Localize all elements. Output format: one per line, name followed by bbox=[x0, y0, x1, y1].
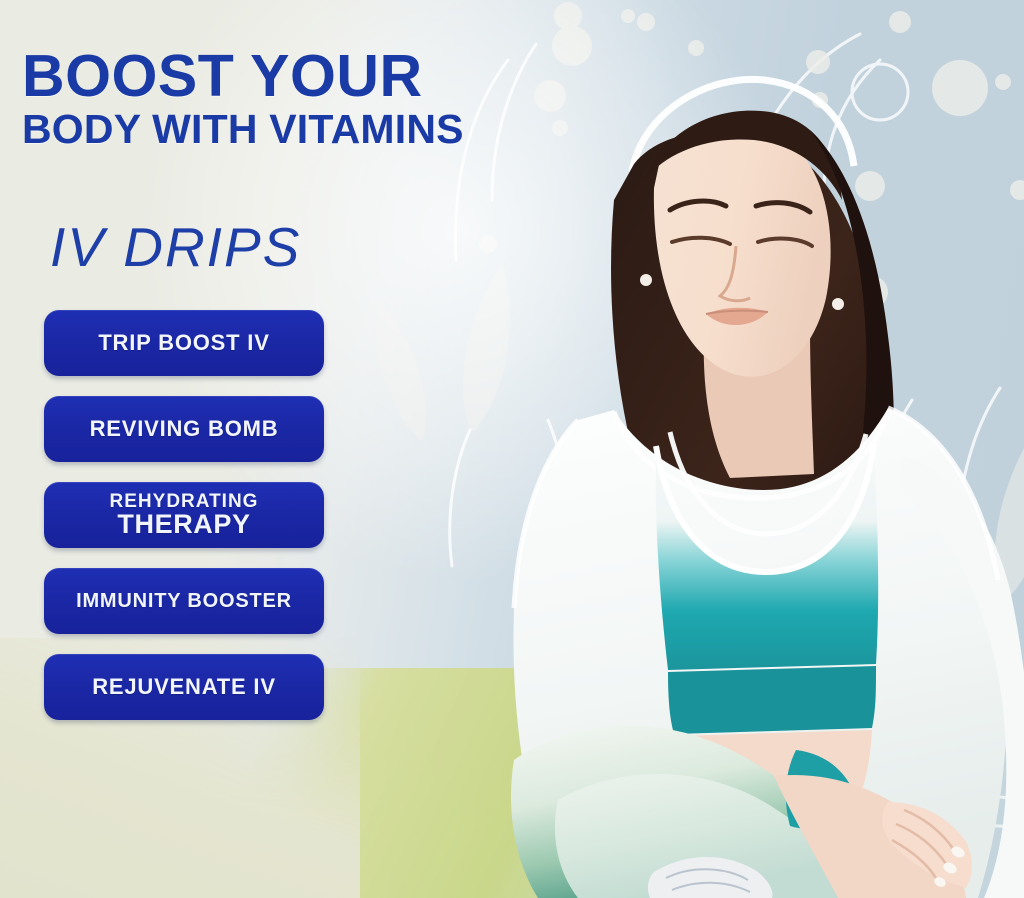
button-label: REJUVENATE IV bbox=[92, 674, 276, 700]
button-label-secondary: THERAPY bbox=[117, 510, 250, 538]
button-rehydrating-therapy[interactable]: REHYDRATING THERAPY bbox=[44, 482, 324, 548]
woman-meditating-photo bbox=[418, 60, 1024, 898]
button-label: TRIP BOOST IV bbox=[98, 330, 269, 356]
poster-canvas: BOOST YOUR BODY WITH VITAMINS IV DRIPS T… bbox=[0, 0, 1024, 898]
button-reviving-bomb[interactable]: REVIVING BOMB bbox=[44, 396, 324, 462]
headline-line-2: BODY WITH VITAMINS bbox=[22, 110, 464, 149]
button-immunity-booster[interactable]: IMMUNITY BOOSTER bbox=[44, 568, 324, 634]
button-label: IMMUNITY BOOSTER bbox=[76, 590, 292, 613]
button-label: REVIVING BOMB bbox=[90, 416, 279, 442]
headline-line-1: BOOST YOUR bbox=[22, 48, 464, 104]
section-heading-iv-drips: IV DRIPS bbox=[50, 215, 301, 279]
page-title: BOOST YOUR BODY WITH VITAMINS bbox=[22, 48, 464, 149]
button-rejuvenate-iv[interactable]: REJUVENATE IV bbox=[44, 654, 324, 720]
button-trip-boost-iv[interactable]: TRIP BOOST IV bbox=[44, 310, 324, 376]
iv-drip-menu-list: TRIP BOOST IV REVIVING BOMB REHYDRATING … bbox=[44, 310, 324, 720]
